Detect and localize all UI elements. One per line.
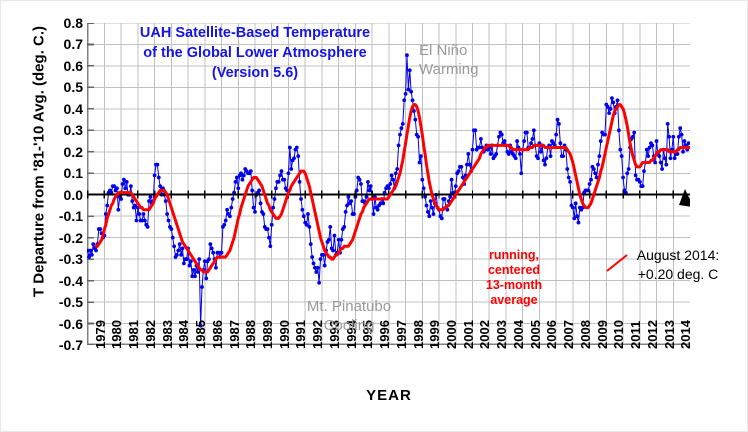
x-tick-label: 2009 <box>595 320 610 349</box>
x-axis-tick-labels: 1979198019811982198319841985198619871988… <box>87 349 691 389</box>
chart-title-line-2: of the Global Lower Atmosphere <box>109 43 401 63</box>
y-axis-tick-labels: 0.80.70.60.50.40.30.20.10.0-0.1-0.2-0.3-… <box>39 23 83 345</box>
running-line-3: 13-month <box>471 278 557 293</box>
pinatubo-line-2: Cooling <box>289 316 409 335</box>
x-tick-label: 1999 <box>427 320 442 349</box>
x-tick-label: 1979 <box>93 320 108 349</box>
chart-title-line-3: (Version 5.6) <box>109 63 401 83</box>
el-nino-line-2: Warming <box>419 60 509 79</box>
monthly-anomaly-line <box>88 55 689 325</box>
x-tick-label: 2005 <box>528 320 543 349</box>
x-tick-label: 1980 <box>109 320 124 349</box>
y-tick-label: 0.3 <box>47 124 83 136</box>
y-tick-label: -0.5 <box>47 296 83 308</box>
x-tick-label: 1987 <box>227 320 242 349</box>
el-nino-line-1: El Niño <box>419 41 509 60</box>
x-tick-label: 2012 <box>645 320 660 349</box>
x-tick-label: 2004 <box>511 320 526 349</box>
running-13-month-average-line <box>96 105 690 272</box>
x-tick-label: 2013 <box>662 320 677 349</box>
x-tick-label: 2001 <box>461 320 476 349</box>
y-tick-label: -0.2 <box>47 232 83 244</box>
mt-pinatubo-cooling-annotation: Mt. Pinatubo Cooling <box>289 297 409 335</box>
x-tick-label: 2006 <box>544 320 559 349</box>
uah-temperature-chart: T Departure from '81-'10 Avg. (deg. C.) … <box>0 0 748 432</box>
x-tick-label: 2007 <box>561 320 576 349</box>
x-tick-label: 2014 <box>678 320 693 349</box>
y-tick-label: -0.4 <box>47 275 83 287</box>
y-tick-label: 0.0 <box>47 189 83 201</box>
x-tick-label: 2003 <box>494 320 509 349</box>
y-tick-label: 0.1 <box>47 167 83 179</box>
x-tick-label: 1989 <box>260 320 275 349</box>
running-line-4: average <box>471 293 557 308</box>
y-tick-label: 0.4 <box>47 103 83 115</box>
x-tick-label: 1985 <box>193 320 208 349</box>
chart-title: UAH Satellite-Based Temperature of the G… <box>109 23 401 83</box>
y-tick-label: -0.1 <box>47 210 83 222</box>
y-tick-label: 0.7 <box>47 38 83 50</box>
running-line-2: centered <box>471 263 557 278</box>
y-tick-label: 0.6 <box>47 60 83 72</box>
x-tick-label: 2000 <box>444 320 459 349</box>
y-tick-label: 0.8 <box>47 17 83 29</box>
august-line-1: August 2014: <box>613 246 743 265</box>
x-tick-label: 1988 <box>243 320 258 349</box>
x-tick-label: 1998 <box>411 320 426 349</box>
running-average-annotation: running, centered 13-month average <box>471 248 557 308</box>
august-2014-annotation: August 2014: +0.20 deg. C <box>613 246 743 284</box>
running-line-1: running, <box>471 248 557 263</box>
x-tick-label: 2002 <box>477 320 492 349</box>
pinatubo-line-1: Mt. Pinatubo <box>289 297 409 316</box>
x-tick-label: 1983 <box>160 320 175 349</box>
el-nino-warming-annotation: El Niño Warming <box>419 41 509 79</box>
y-tick-label: 0.2 <box>47 146 83 158</box>
x-tick-label: 1986 <box>210 320 225 349</box>
y-tick-label: 0.5 <box>47 81 83 93</box>
y-tick-label: -0.3 <box>47 253 83 265</box>
x-axis-title: YEAR <box>87 387 691 404</box>
x-tick-label: 2010 <box>611 320 626 349</box>
x-tick-label: 1984 <box>176 320 191 349</box>
x-tick-label: 2008 <box>578 320 593 349</box>
y-tick-label: -0.6 <box>47 318 83 330</box>
x-tick-label: 1981 <box>126 320 141 349</box>
chart-title-line-1: UAH Satellite-Based Temperature <box>109 23 401 43</box>
y-tick-label: -0.7 <box>47 339 83 351</box>
x-tick-label: 1982 <box>143 320 158 349</box>
august-line-2: +0.20 deg. C <box>613 265 743 284</box>
x-tick-label: 2011 <box>628 321 643 349</box>
